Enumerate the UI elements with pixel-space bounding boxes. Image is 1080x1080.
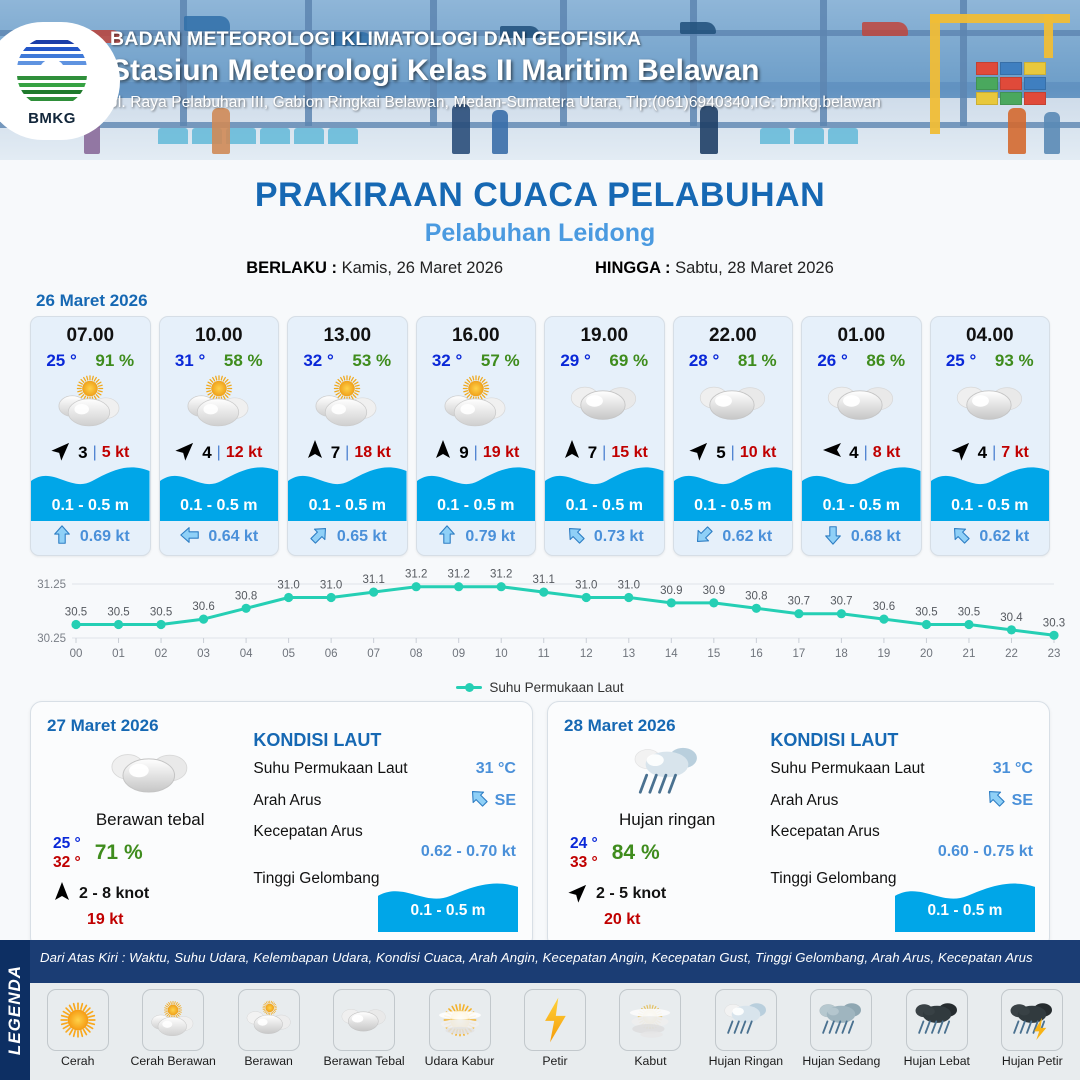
- card-temp-hum-row: 32 ° 57 %: [417, 351, 536, 371]
- card-temp-hum-row: 25 ° 91 %: [31, 351, 150, 371]
- svg-text:31.1: 31.1: [533, 574, 555, 586]
- sea-wave-value: 0.1 - 0.5 m: [378, 902, 518, 920]
- cloud-sun-small-icon: [238, 989, 300, 1051]
- svg-text:21: 21: [963, 648, 976, 660]
- svg-text:14: 14: [665, 648, 678, 660]
- legend-item: Kabut: [604, 989, 696, 1068]
- bmkg-logo: BMKG: [0, 22, 120, 140]
- daily-sea-column: KONDISI LAUT Suhu Permukaan Laut 31 °C A…: [770, 716, 1033, 934]
- card-current-speed: 0.69 kt: [80, 528, 130, 546]
- person-silhouette: [1044, 112, 1060, 154]
- legend-item-label: Udara Kabur: [425, 1054, 495, 1068]
- card-current-speed: 0.68 kt: [851, 528, 901, 546]
- rain-heavy-icon: [906, 989, 968, 1051]
- sun-cloud-icon: [31, 373, 150, 433]
- daily-temp-max: 32 °: [53, 853, 81, 872]
- sea-sst-label: Suhu Permukaan Laut: [770, 760, 924, 778]
- daily-forecast-panel: 27 Maret 2026 Berawan tebal 25 ° 32 ° 71…: [30, 701, 533, 949]
- card-current-row: 0.62 kt: [931, 523, 1050, 551]
- card-humidity: 53 %: [352, 351, 391, 371]
- cargo-container: [1000, 62, 1022, 75]
- waiting-chair: [158, 128, 188, 144]
- thick-cloud-icon: [333, 989, 395, 1051]
- sea-current-dir-value-group: SE: [468, 787, 516, 814]
- daily-condition: Berawan tebal: [47, 810, 253, 830]
- current-direction-arrow-icon: [436, 524, 458, 551]
- current-direction-arrow-icon: [308, 524, 330, 551]
- svg-text:07: 07: [367, 648, 380, 660]
- card-current-row: 0.68 kt: [802, 523, 921, 551]
- cloud-icon: [931, 373, 1050, 433]
- forecast-card: 04.00 25 ° 93 % 4 | 7 kt 0.1 - 0.5 m 0.6…: [930, 316, 1051, 556]
- cargo-container: [1024, 77, 1046, 90]
- waiting-chair: [828, 128, 858, 144]
- svg-text:30.5: 30.5: [107, 607, 129, 619]
- legend-item-label: Petir: [542, 1054, 567, 1068]
- card-current-speed: 0.64 kt: [208, 528, 258, 546]
- sun-cloud-icon: [142, 989, 204, 1051]
- sea-condition-title: KONDISI LAUT: [253, 730, 516, 751]
- thick-cloud-icon: [47, 742, 253, 804]
- daily-gust: 20 kt: [564, 911, 770, 929]
- sea-current-dir-value: SE: [495, 792, 516, 810]
- svg-text:30.7: 30.7: [830, 596, 852, 608]
- fog-icon: [619, 989, 681, 1051]
- daily-wind-range: 2 - 8 knot: [79, 885, 149, 903]
- port-name: Pelabuhan Leidong: [0, 219, 1080, 248]
- card-humidity: 57 %: [481, 351, 520, 371]
- svg-text:31.2: 31.2: [448, 569, 470, 581]
- svg-text:01: 01: [112, 648, 125, 660]
- legend-item: Cerah Berawan: [127, 989, 219, 1068]
- daily-forecast-panel: 28 Maret 2026 Hujan ringan 24 ° 33 ° 84 …: [547, 701, 1050, 949]
- legend-item: Berawan: [223, 989, 315, 1068]
- page-title: PRAKIRAAN CUACA PELABUHAN: [0, 176, 1080, 215]
- daily-left-column: 28 Maret 2026 Hujan ringan 24 ° 33 ° 84 …: [564, 716, 770, 934]
- svg-text:30.8: 30.8: [745, 590, 767, 602]
- svg-text:12: 12: [580, 648, 593, 660]
- sst-chart-svg: 31.2530.25000102030405060708091011121314…: [14, 566, 1066, 678]
- current-direction-arrow-icon: [468, 787, 490, 814]
- svg-text:30.6: 30.6: [192, 601, 214, 613]
- sea-wave-label: Tinggi Gelombang: [253, 870, 379, 888]
- cargo-container: [1024, 92, 1046, 105]
- card-humidity: 81 %: [738, 351, 777, 371]
- legend-item-label: Cerah: [61, 1054, 95, 1068]
- sea-current-speed-row: Kecepatan Arus: [253, 823, 516, 841]
- legend-item-label: Hujan Sedang: [802, 1054, 880, 1068]
- card-current-speed: 0.62 kt: [722, 528, 772, 546]
- card-humidity: 69 %: [609, 351, 648, 371]
- card-temp-hum-row: 28 ° 81 %: [674, 351, 793, 371]
- forecast-card: 16.00 32 ° 57 % 9 | 19 kt 0.1 - 0.5 m: [416, 316, 537, 556]
- card-current-speed: 0.79 kt: [465, 528, 515, 546]
- sst-chart: 31.2530.25000102030405060708091011121314…: [14, 566, 1066, 678]
- legend-item: Hujan Lebat: [891, 989, 983, 1068]
- sea-wave-label: Tinggi Gelombang: [770, 870, 896, 888]
- chart-legend-marker: [456, 686, 482, 689]
- current-direction-arrow-icon: [693, 524, 715, 551]
- forecast-card: 22.00 28 ° 81 % 5 | 10 kt 0.1 - 0.5 m 0.…: [673, 316, 794, 556]
- current-direction-arrow-icon: [179, 524, 201, 551]
- valid-until-value: Sabtu, 28 Maret 2026: [675, 259, 834, 277]
- svg-text:10: 10: [495, 648, 508, 660]
- sea-current-dir-value-group: SE: [985, 787, 1033, 814]
- legend-item: Petir: [509, 989, 601, 1068]
- svg-text:31.1: 31.1: [362, 574, 384, 586]
- legend-item-label: Berawan: [244, 1054, 293, 1068]
- rain-light-icon: [564, 742, 770, 804]
- svg-text:31.2: 31.2: [490, 569, 512, 581]
- sun-cloud-icon: [288, 373, 407, 433]
- svg-text:02: 02: [155, 648, 168, 660]
- legend-item: Udara Kabur: [414, 989, 506, 1068]
- svg-text:30.9: 30.9: [660, 585, 682, 597]
- forecast-card: 07.00 25 ° 91 % 3 | 5 kt 0.1 - 0.5 m: [30, 316, 151, 556]
- valid-until: HINGGA : Sabtu, 28 Maret 2026: [595, 259, 834, 278]
- card-wave-height: 0.1 - 0.5 m: [288, 497, 407, 515]
- sea-sst-value: 31 °C: [476, 760, 516, 778]
- daily-humidity: 71 %: [95, 841, 143, 865]
- svg-text:31.2: 31.2: [405, 569, 427, 581]
- card-temp-hum-row: 26 ° 86 %: [802, 351, 921, 371]
- rain-moderate-icon: [810, 989, 872, 1051]
- svg-text:17: 17: [792, 648, 805, 660]
- haze-icon: [429, 989, 491, 1051]
- svg-text:22: 22: [1005, 648, 1018, 660]
- card-time: 10.00: [160, 325, 279, 347]
- sea-current-dir-value: SE: [1012, 792, 1033, 810]
- forecast-card: 19.00 29 ° 69 % 7 | 15 kt 0.1 - 0.5 m 0.…: [544, 316, 665, 556]
- card-wave-height: 0.1 - 0.5 m: [160, 497, 279, 515]
- svg-text:30.3: 30.3: [1043, 617, 1065, 629]
- svg-text:30.25: 30.25: [37, 633, 66, 645]
- svg-text:31.0: 31.0: [618, 580, 640, 592]
- sea-current-speed-label: Kecepatan Arus: [253, 823, 362, 841]
- card-current-row: 0.64 kt: [160, 523, 279, 551]
- agency-name: BADAN METEOROLOGI KLIMATOLOGI DAN GEOFIS…: [110, 28, 881, 51]
- card-time: 04.00: [931, 325, 1050, 347]
- svg-text:19: 19: [878, 648, 891, 660]
- card-wave-height: 0.1 - 0.5 m: [674, 497, 793, 515]
- svg-text:30.5: 30.5: [958, 607, 980, 619]
- card-humidity: 91 %: [95, 351, 134, 371]
- card-current-speed: 0.73 kt: [594, 528, 644, 546]
- card-temperature: 26 °: [817, 351, 847, 371]
- validity-row: BERLAKU : Kamis, 26 Maret 2026 HINGGA : …: [0, 259, 1080, 278]
- svg-text:23: 23: [1048, 648, 1061, 660]
- valid-from-value: Kamis, 26 Maret 2026: [342, 259, 503, 277]
- forecast-date-label: 26 Maret 2026: [36, 291, 1080, 311]
- cloud-icon: [674, 373, 793, 433]
- svg-text:00: 00: [70, 648, 83, 660]
- bmkg-logo-mark: [15, 35, 89, 109]
- svg-text:05: 05: [282, 648, 295, 660]
- svg-text:30.5: 30.5: [915, 607, 937, 619]
- card-temperature: 25 °: [46, 351, 76, 371]
- sea-sst-row: Suhu Permukaan Laut 31 °C: [253, 760, 516, 778]
- card-time: 19.00: [545, 325, 664, 347]
- sun-cloud-icon: [417, 373, 536, 433]
- svg-text:31.0: 31.0: [277, 580, 299, 592]
- page-title-block: PRAKIRAAN CUACA PELABUHAN Pelabuhan Leid…: [0, 176, 1080, 278]
- sea-current-speed-value: 0.60 - 0.75 kt: [770, 843, 1033, 861]
- legend-item: Berawan Tebal: [318, 989, 410, 1068]
- sea-current-speed-row: Kecepatan Arus: [770, 823, 1033, 841]
- cloud-icon: [545, 373, 664, 433]
- legend-item-label: Cerah Berawan: [130, 1054, 215, 1068]
- legend-side-title: LEGENDA: [0, 940, 30, 1080]
- sea-current-speed-label: Kecepatan Arus: [770, 823, 879, 841]
- waiting-chair: [328, 128, 358, 144]
- valid-until-label: HINGGA :: [595, 259, 670, 277]
- svg-text:16: 16: [750, 648, 763, 660]
- chart-legend: Suhu Permukaan Laut: [0, 680, 1080, 695]
- legend-item: Hujan Petir: [986, 989, 1078, 1068]
- svg-text:30.5: 30.5: [150, 607, 172, 619]
- daily-gust: 19 kt: [47, 911, 253, 929]
- current-direction-arrow-icon: [51, 524, 73, 551]
- svg-text:30.5: 30.5: [65, 607, 87, 619]
- card-temp-hum-row: 31 ° 58 %: [160, 351, 279, 371]
- card-time: 13.00: [288, 325, 407, 347]
- header-text-block: BADAN METEOROLOGI KLIMATOLOGI DAN GEOFIS…: [110, 28, 881, 112]
- svg-text:06: 06: [325, 648, 338, 660]
- card-current-row: 0.65 kt: [288, 523, 407, 551]
- cargo-container: [976, 92, 998, 105]
- wind-direction-arrow-icon: [51, 881, 73, 908]
- card-current-row: 0.79 kt: [417, 523, 536, 551]
- svg-text:04: 04: [240, 648, 253, 660]
- sea-sst-row: Suhu Permukaan Laut 31 °C: [770, 760, 1033, 778]
- sea-current-speed-value: 0.62 - 0.70 kt: [253, 843, 516, 861]
- daily-left-column: 27 Maret 2026 Berawan tebal 25 ° 32 ° 71…: [47, 716, 253, 934]
- bmkg-logo-text: BMKG: [28, 110, 76, 127]
- chart-legend-label: Suhu Permukaan Laut: [489, 680, 623, 695]
- card-humidity: 86 %: [866, 351, 905, 371]
- current-direction-arrow-icon: [565, 524, 587, 551]
- daily-wind-row: 2 - 8 knot: [47, 881, 253, 908]
- person-silhouette: [700, 106, 718, 154]
- daily-date: 28 Maret 2026: [564, 716, 770, 736]
- sea-wave-graphic: 0.1 - 0.5 m: [895, 876, 1035, 932]
- current-direction-arrow-icon: [822, 524, 844, 551]
- card-humidity: 93 %: [995, 351, 1034, 371]
- legend-item-label: Berawan Tebal: [324, 1054, 405, 1068]
- rain-light-icon: [715, 989, 777, 1051]
- legend-item: Hujan Ringan: [700, 989, 792, 1068]
- daily-temp-max: 33 °: [570, 853, 598, 872]
- svg-text:30.7: 30.7: [788, 596, 810, 608]
- sea-condition-title: KONDISI LAUT: [770, 730, 1033, 751]
- svg-text:15: 15: [707, 648, 720, 660]
- svg-text:09: 09: [452, 648, 465, 660]
- wind-direction-arrow-icon: [568, 881, 590, 908]
- daily-wind-range: 2 - 5 knot: [596, 885, 666, 903]
- bmkg-logo-land-stripes: [17, 74, 87, 107]
- card-temperature: 25 °: [946, 351, 976, 371]
- card-current-row: 0.73 kt: [545, 523, 664, 551]
- forecast-card-row: 07.00 25 ° 91 % 3 | 5 kt 0.1 - 0.5 m: [0, 316, 1080, 556]
- waiting-chair: [294, 128, 324, 144]
- svg-text:30.4: 30.4: [1000, 612, 1023, 624]
- current-direction-arrow-icon: [950, 524, 972, 551]
- card-humidity: 58 %: [224, 351, 263, 371]
- legend-icon-row: Cerah Cerah Berawan Berawan: [30, 983, 1080, 1080]
- sea-wave-value: 0.1 - 0.5 m: [895, 902, 1035, 920]
- svg-text:18: 18: [835, 648, 848, 660]
- card-time: 01.00: [802, 325, 921, 347]
- cargo-container: [1000, 77, 1022, 90]
- svg-text:20: 20: [920, 648, 933, 660]
- cargo-container: [1000, 92, 1022, 105]
- svg-text:31.0: 31.0: [320, 580, 342, 592]
- thunderstorm-icon: [1001, 989, 1063, 1051]
- legend-item-label: Hujan Ringan: [709, 1054, 784, 1068]
- daily-temp-hum-row: 25 ° 32 ° 71 %: [47, 834, 253, 873]
- station-address: Jl. Raya Pelabuhan III, Gabion Ringkai B…: [110, 94, 881, 112]
- station-name: Stasiun Meteorologi Kelas II Maritim Bel…: [110, 54, 881, 88]
- card-temperature: 32 °: [303, 351, 333, 371]
- daily-temp-min: 25 °: [53, 834, 81, 853]
- cargo-container: [976, 62, 998, 75]
- legend-note: Dari Atas Kiri : Waktu, Suhu Udara, Kele…: [40, 950, 1072, 965]
- forecast-card: 13.00 32 ° 53 % 7 | 18 kt 0.1 - 0.5 m: [287, 316, 408, 556]
- card-wave-height: 0.1 - 0.5 m: [931, 497, 1050, 515]
- card-current-speed: 0.62 kt: [979, 528, 1029, 546]
- cloud-icon: [802, 373, 921, 433]
- svg-text:03: 03: [197, 648, 210, 660]
- cargo-container: [1024, 62, 1046, 75]
- daily-condition: Hujan ringan: [564, 810, 770, 830]
- card-temp-hum-row: 32 ° 53 %: [288, 351, 407, 371]
- daily-sea-column: KONDISI LAUT Suhu Permukaan Laut 31 °C A…: [253, 716, 516, 934]
- sea-current-dir-label: Arah Arus: [770, 792, 838, 810]
- person-silhouette: [492, 110, 508, 154]
- svg-text:31.25: 31.25: [37, 579, 66, 591]
- daily-temp-range: 25 ° 32 °: [53, 834, 81, 873]
- card-time: 07.00: [31, 325, 150, 347]
- legend-bar: LEGENDA Dari Atas Kiri : Waktu, Suhu Uda…: [0, 940, 1080, 1080]
- card-wave-height: 0.1 - 0.5 m: [802, 497, 921, 515]
- daily-temp-hum-row: 24 ° 33 ° 84 %: [564, 834, 770, 873]
- card-wave-height: 0.1 - 0.5 m: [545, 497, 664, 515]
- card-temperature: 32 °: [432, 351, 462, 371]
- current-direction-arrow-icon: [985, 787, 1007, 814]
- waiting-chair: [760, 128, 790, 144]
- svg-text:31.0: 31.0: [575, 580, 597, 592]
- daily-temp-range: 24 ° 33 °: [570, 834, 598, 873]
- daily-forecast-row: 27 Maret 2026 Berawan tebal 25 ° 32 ° 71…: [0, 695, 1080, 949]
- forecast-card: 01.00 26 ° 86 % 4 | 8 kt 0.1 - 0.5 m 0.6…: [801, 316, 922, 556]
- sea-sst-label: Suhu Permukaan Laut: [253, 760, 407, 778]
- sea-current-dir-row: Arah Arus SE: [770, 787, 1033, 814]
- daily-wind-row: 2 - 5 knot: [564, 881, 770, 908]
- legend-item-label: Hujan Lebat: [904, 1054, 970, 1068]
- crane-icon: [1044, 14, 1053, 58]
- waiting-chair: [260, 128, 290, 144]
- sea-sst-value: 31 °C: [993, 760, 1033, 778]
- card-temp-hum-row: 29 ° 69 %: [545, 351, 664, 371]
- person-silhouette: [1008, 108, 1026, 154]
- card-wave-height: 0.1 - 0.5 m: [417, 497, 536, 515]
- cargo-container: [976, 77, 998, 90]
- card-time: 16.00: [417, 325, 536, 347]
- sea-current-dir-row: Arah Arus SE: [253, 787, 516, 814]
- legend-item-label: Kabut: [634, 1054, 666, 1068]
- crane-icon: [930, 14, 940, 134]
- legend-item: Hujan Sedang: [795, 989, 887, 1068]
- svg-text:30.9: 30.9: [703, 585, 725, 597]
- page-header: BMKG BADAN METEOROLOGI KLIMATOLOGI DAN G…: [0, 0, 1080, 160]
- legend-item: Cerah: [32, 989, 124, 1068]
- legend-side-text: LEGENDA: [5, 965, 25, 1055]
- card-temperature: 28 °: [689, 351, 719, 371]
- person-silhouette: [212, 108, 230, 154]
- card-temp-hum-row: 25 ° 93 %: [931, 351, 1050, 371]
- daily-humidity: 84 %: [612, 841, 660, 865]
- card-wave-height: 0.1 - 0.5 m: [31, 497, 150, 515]
- svg-text:30.6: 30.6: [873, 601, 895, 613]
- card-current-row: 0.69 kt: [31, 523, 150, 551]
- daily-date: 27 Maret 2026: [47, 716, 253, 736]
- card-temperature: 29 °: [560, 351, 590, 371]
- sun-icon: [47, 989, 109, 1051]
- card-time: 22.00: [674, 325, 793, 347]
- valid-from: BERLAKU : Kamis, 26 Maret 2026: [246, 259, 503, 278]
- card-temperature: 31 °: [175, 351, 205, 371]
- lightning-icon: [524, 989, 586, 1051]
- svg-text:08: 08: [410, 648, 423, 660]
- svg-text:11: 11: [538, 648, 550, 660]
- svg-text:30.8: 30.8: [235, 590, 257, 602]
- waiting-chair: [226, 128, 256, 144]
- sun-cloud-icon: [160, 373, 279, 433]
- svg-text:13: 13: [622, 648, 635, 660]
- card-current-row: 0.62 kt: [674, 523, 793, 551]
- forecast-card: 10.00 31 ° 58 % 4 | 12 kt 0.1 - 0.5 m: [159, 316, 280, 556]
- card-current-speed: 0.65 kt: [337, 528, 387, 546]
- sea-current-dir-label: Arah Arus: [253, 792, 321, 810]
- legend-item-label: Hujan Petir: [1002, 1054, 1063, 1068]
- sea-wave-graphic: 0.1 - 0.5 m: [378, 876, 518, 932]
- daily-temp-min: 24 °: [570, 834, 598, 853]
- waiting-chair: [794, 128, 824, 144]
- valid-from-label: BERLAKU :: [246, 259, 337, 277]
